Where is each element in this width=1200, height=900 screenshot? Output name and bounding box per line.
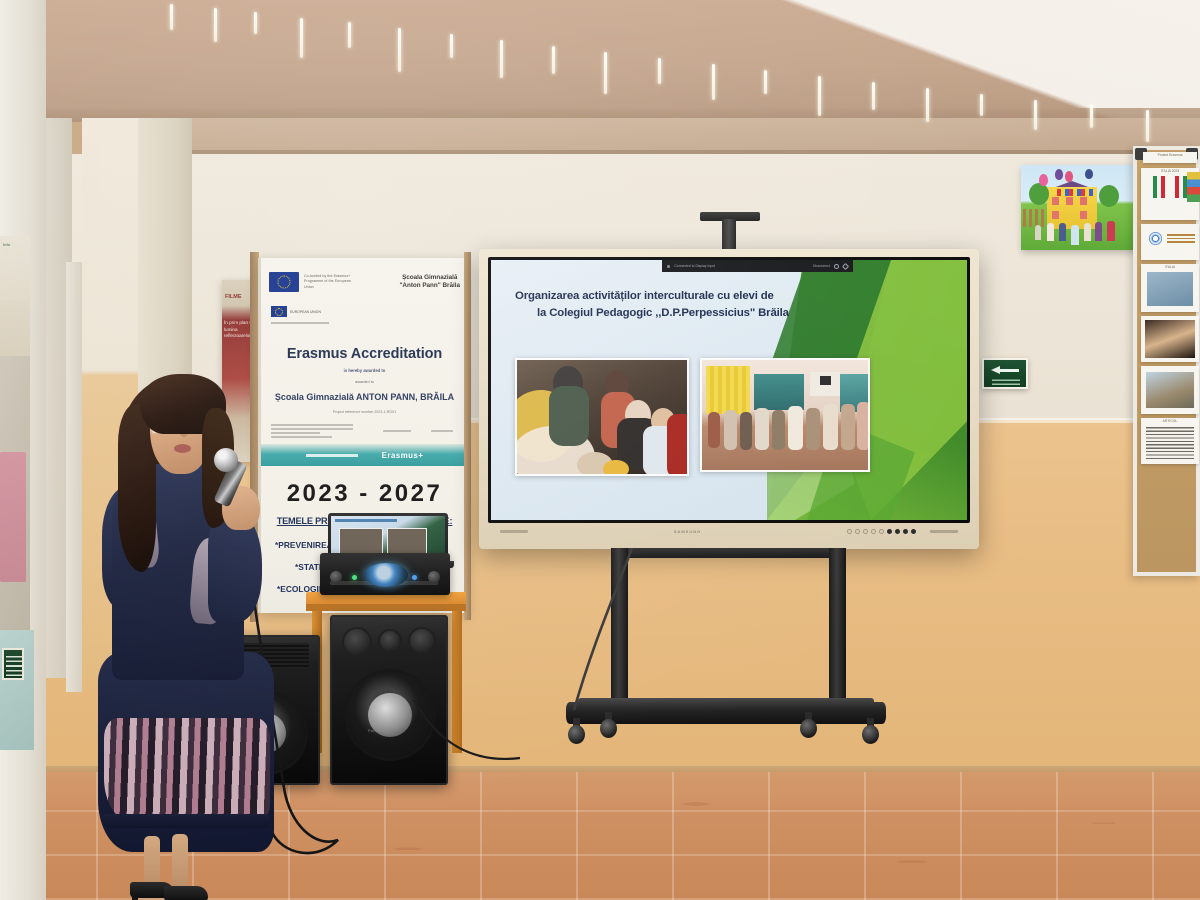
wall-vent: [2, 648, 24, 680]
slide-connection-toolbar[interactable]: Connected to Display Input Disconnect: [662, 260, 852, 272]
band-rule: [306, 454, 358, 457]
left-wall-notice: Info: [0, 236, 30, 356]
emergency-exit-sign: [982, 358, 1028, 389]
painting-balloon: [1039, 174, 1048, 186]
banner-pole-right: [464, 252, 471, 620]
board-panel: [1141, 316, 1199, 362]
eu-cofunding-text: Co-funded by the Erasmus+ Programme of t…: [304, 274, 352, 290]
slide-photo-folk-costumes: [515, 358, 689, 476]
panel-button[interactable]: [879, 529, 884, 534]
panel-bottom-bezel: SAMSUNG: [488, 523, 970, 539]
string-light-strand: [552, 46, 555, 74]
presentation-room-scene: Info Proiect Erasmus: [0, 0, 1200, 900]
board-panel: ARTICOL: [1141, 418, 1199, 464]
painting-figure: [1084, 223, 1091, 241]
exit-left-arrow-icon: [991, 366, 1019, 374]
painting-figure: [1047, 223, 1054, 241]
string-light-strand: [170, 4, 173, 30]
painting-tree: [1029, 183, 1049, 205]
panel-button[interactable]: [855, 529, 860, 534]
string-light-strand: [300, 18, 303, 58]
banner-microtext-line: [271, 322, 329, 324]
edit-pen-icon[interactable]: [842, 262, 849, 269]
painting-window: [1080, 211, 1087, 219]
panel-button[interactable]: [863, 529, 868, 534]
string-light-strand: [818, 76, 821, 116]
interactive-flat-panel-display[interactable]: Connected to Display Input Disconnect Or…: [479, 249, 979, 549]
exit-sign-text-lines: [992, 377, 1020, 385]
banner-signature-line-2: [431, 430, 453, 432]
painting-window: [1052, 211, 1059, 219]
painting-window: [1080, 197, 1087, 205]
board-photo-monument: [1146, 372, 1194, 408]
painting-window: [1052, 197, 1059, 205]
painting-fence: [1023, 209, 1047, 227]
board-panel: [1141, 224, 1199, 260]
cart-post-right: [829, 548, 846, 704]
amp-volume-knob[interactable]: [330, 571, 342, 583]
amp-selector-knob[interactable]: [428, 571, 440, 583]
panel-port-right[interactable]: [930, 530, 958, 533]
string-light-strand: [450, 34, 453, 58]
panel-brand-label: SAMSUNG: [674, 529, 701, 534]
painting-figure: [1095, 222, 1102, 241]
panel-port-left[interactable]: [500, 530, 528, 533]
laptop-slide-photo: [387, 528, 427, 554]
board-panel-label: ARTICOL: [1141, 418, 1199, 423]
board-photo: [1147, 272, 1193, 306]
italian-flag-icon: [1175, 176, 1187, 198]
eu-flag-icon-small: [271, 306, 287, 317]
amp-status-led: [352, 575, 357, 580]
board-photo-portrait: [1145, 320, 1195, 358]
door-frame: [66, 262, 82, 692]
presenter-person: [96, 352, 296, 900]
banner-signature-line-1: [383, 430, 411, 432]
color-chart: [1187, 172, 1200, 202]
board-panel-label: ITALIA: [1141, 264, 1199, 269]
string-lights: [0, 0, 1200, 130]
painting-figure: [1071, 225, 1079, 245]
film-poster-title: FILME: [225, 294, 242, 300]
board-header-sheet: Proiect Erasmus: [1143, 152, 1197, 163]
left-wall-notice-label: Info: [3, 242, 10, 247]
string-light-strand: [398, 28, 401, 72]
board-panel: [1141, 366, 1199, 414]
panel-button[interactable]: [871, 529, 876, 534]
dress-embroidered-border: [104, 718, 270, 822]
microphone-head-icon[interactable]: [214, 448, 238, 472]
painting-flag-bunting: [1057, 189, 1093, 196]
painting-figure: [1035, 225, 1041, 240]
display-power-cable: [560, 548, 680, 728]
string-light-strand: [980, 94, 983, 116]
slide-title-line1: Organizarea activităților interculturale…: [515, 290, 774, 302]
string-light-strand: [712, 64, 715, 100]
bulletin-board: Proiect Erasmus ITALIA 2023 ITALIA: [1133, 146, 1200, 576]
painting-balloon: [1065, 171, 1073, 182]
panel-button[interactable]: [895, 529, 900, 534]
audio-amplifier[interactable]: [320, 553, 450, 595]
childrens-painting: [1021, 165, 1137, 250]
shoe-heel: [132, 894, 138, 900]
painting-figure: [1059, 223, 1066, 241]
dress-hem: [102, 814, 270, 828]
school-name-line2: "Anton Pann" Brăila: [399, 282, 460, 289]
cart-caster: [800, 712, 817, 738]
panel-control-buttons[interactable]: [847, 529, 916, 534]
banner-eu-logo-secondary: EUROPEAN UNION: [271, 306, 321, 317]
pink-door-panel: [0, 452, 26, 582]
panel-button[interactable]: [911, 529, 916, 534]
board-header-label: Proiect Erasmus: [1143, 152, 1197, 157]
erasmus-plus-label: Erasmus+: [382, 451, 424, 460]
slide-title: Organizarea activităților interculturale…: [515, 288, 887, 323]
string-light-strand: [348, 22, 351, 48]
toolbar-actions[interactable]: Disconnect: [813, 264, 848, 269]
painting-balloon: [1055, 169, 1063, 180]
string-light-strand: [214, 8, 217, 42]
string-light-strand: [872, 82, 875, 110]
settings-icon[interactable]: [834, 264, 839, 269]
status-dot-icon: [667, 265, 670, 268]
panel-screen-frame: Connected to Display Input Disconnect Or…: [488, 257, 970, 523]
string-light-strand: [604, 52, 607, 94]
banner-school-name: Școala Gimnazială "Anton Pann" Brăila: [399, 274, 460, 291]
string-light-strand: [500, 40, 503, 78]
wall-vent-louvers: [6, 654, 22, 676]
laptop-slide-photo: [339, 528, 383, 554]
string-light-strand: [658, 58, 661, 84]
rosette-seal-icon: [1149, 232, 1162, 245]
connection-status-text: Connected to Display Input: [674, 264, 715, 268]
disconnect-label[interactable]: Disconnect: [813, 264, 830, 268]
string-light-strand: [764, 70, 767, 94]
string-light-strand: [1146, 110, 1149, 142]
string-light-strand: [1034, 100, 1037, 130]
speaker-cable: [400, 700, 560, 820]
cart-caster: [862, 718, 879, 744]
school-name-line1: Școala Gimnazială: [402, 274, 457, 281]
slide-title-line2: la Colegiul Pedagogic ,,D.P.Perpessicius…: [515, 305, 887, 322]
presentation-slide[interactable]: Connected to Display Input Disconnect Or…: [491, 260, 967, 520]
panel-button[interactable]: [903, 529, 908, 534]
string-light-strand: [254, 12, 257, 34]
display-mount-neck: [722, 219, 736, 253]
leg-right: [172, 834, 188, 892]
panel-power-button[interactable]: [887, 529, 892, 534]
painting-balloon: [1085, 169, 1093, 179]
laptop-slide-titlebar: [335, 519, 397, 522]
eu-flag-icon: [269, 272, 299, 292]
panel-button[interactable]: [847, 529, 852, 534]
amp-display-dial: [364, 563, 408, 587]
eu-label: EUROPEAN UNION: [290, 310, 321, 314]
italian-flag-icon: [1153, 176, 1165, 198]
painting-tree: [1099, 185, 1119, 207]
board-panel: ITALIA: [1141, 264, 1199, 312]
string-light-strand: [926, 88, 929, 122]
painting-figure: [1107, 221, 1115, 241]
string-light-strand: [1090, 104, 1093, 128]
mouth: [174, 444, 191, 453]
painting-window: [1066, 197, 1073, 205]
amp-status-led: [412, 575, 417, 580]
banner-top-row: Co-funded by the Erasmus+ Programme of t…: [269, 266, 460, 298]
newspaper-clipping: [1146, 427, 1194, 459]
slide-photo-children-group: [700, 358, 870, 472]
